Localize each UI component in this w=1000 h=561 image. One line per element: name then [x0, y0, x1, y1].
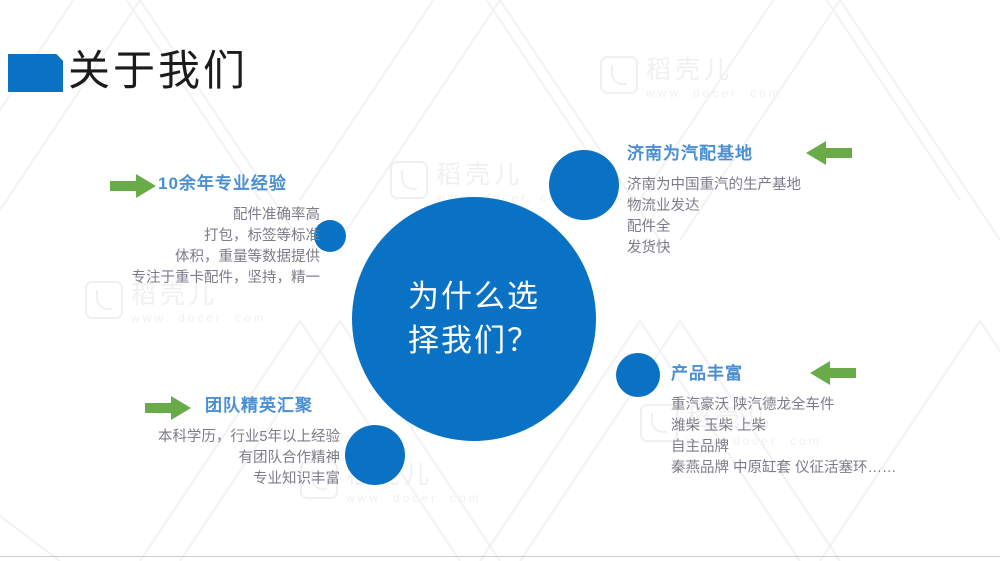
slide-canvas: 稻壳儿 www. docer. com 稻壳儿 www. docer. com …	[0, 0, 1000, 561]
block-bottom-left-line-3: 专业知识丰富	[20, 469, 340, 490]
block-top-left-line-1: 配件准确率高	[20, 205, 320, 226]
block-top-left-body: 配件准确率高 打包，标签等标准 体积，重量等数据提供 专注于重卡配件，坚持，精一	[20, 205, 320, 289]
block-bottom-left-line-1: 本科学历，行业5年以上经验	[20, 427, 340, 448]
block-bottom-right-heading: 产品丰富	[671, 363, 743, 385]
center-circle-label: 为什么选 择我们？	[352, 197, 596, 441]
watermark-brand: 稻壳儿	[646, 50, 733, 86]
decor-circle-right	[616, 353, 660, 397]
block-top-left-line-2: 打包，标签等标准	[20, 226, 320, 247]
docer-leaf-icon	[390, 161, 428, 199]
docer-leaf-icon	[600, 56, 638, 94]
arrow-left-icon-bottom-right	[810, 361, 856, 385]
block-top-left-heading: 10余年专业经验	[158, 173, 287, 195]
block-top-right-line-2: 物流业发达	[627, 196, 801, 217]
page-title: 关于我们	[68, 43, 248, 99]
watermark-url: www. docer. com	[646, 86, 782, 100]
center-line-2: 择我们？	[394, 319, 554, 363]
block-bottom-right-line-2: 潍柴 玉柴 上柴	[671, 416, 897, 437]
watermark-brand: 稻壳儿	[436, 155, 523, 191]
block-top-right-heading: 济南为汽配基地	[627, 143, 753, 165]
block-top-right-heading-wrap: 济南为汽配基地	[627, 143, 753, 165]
block-bottom-left-body: 本科学历，行业5年以上经验 有团队合作精神 专业知识丰富	[20, 427, 340, 490]
block-top-left-line-4: 专注于重卡配件，坚持，精一	[20, 268, 320, 289]
block-bottom-left-heading-wrap: 团队精英汇聚	[205, 395, 313, 417]
slide-bottom-rule	[0, 556, 1000, 557]
block-top-left-heading-wrap: 10余年专业经验	[158, 173, 287, 195]
arrow-right-icon-bottom-left	[145, 396, 191, 420]
title-accent-badge	[8, 54, 63, 92]
center-line-1: 为什么选	[394, 275, 554, 319]
block-bottom-left-line-2: 有团队合作精神	[20, 448, 340, 469]
block-bottom-right-line-4: 秦燕品牌 中原缸套 仪征活塞环……	[671, 458, 897, 479]
block-top-left-line-3: 体积，重量等数据提供	[20, 247, 320, 268]
watermark-url: www. docer. com	[131, 311, 267, 325]
watermark-url: www. docer. com	[346, 491, 482, 505]
block-bottom-right-line-3: 自主品牌	[671, 437, 897, 458]
block-bottom-right-line-1: 重汽豪沃 陕汽德龙全车件	[671, 395, 897, 416]
block-top-right-body: 济南为中国重汽的生产基地 物流业发达 配件全 发货快	[627, 175, 801, 259]
block-top-right-line-3: 配件全	[627, 217, 801, 238]
block-bottom-right-body: 重汽豪沃 陕汽德龙全车件 潍柴 玉柴 上柴 自主品牌 秦燕品牌 中原缸套 仪征活…	[671, 395, 897, 479]
arrow-left-icon-top-right	[806, 141, 852, 165]
block-bottom-right-heading-wrap: 产品丰富	[671, 363, 743, 385]
block-top-right-line-4: 发货快	[627, 238, 801, 259]
block-bottom-left-heading: 团队精英汇聚	[205, 395, 313, 417]
block-top-right-line-1: 济南为中国重汽的生产基地	[627, 175, 801, 196]
arrow-right-icon-top-left	[110, 174, 156, 198]
watermark-logo-1: 稻壳儿 www. docer. com	[600, 50, 782, 100]
